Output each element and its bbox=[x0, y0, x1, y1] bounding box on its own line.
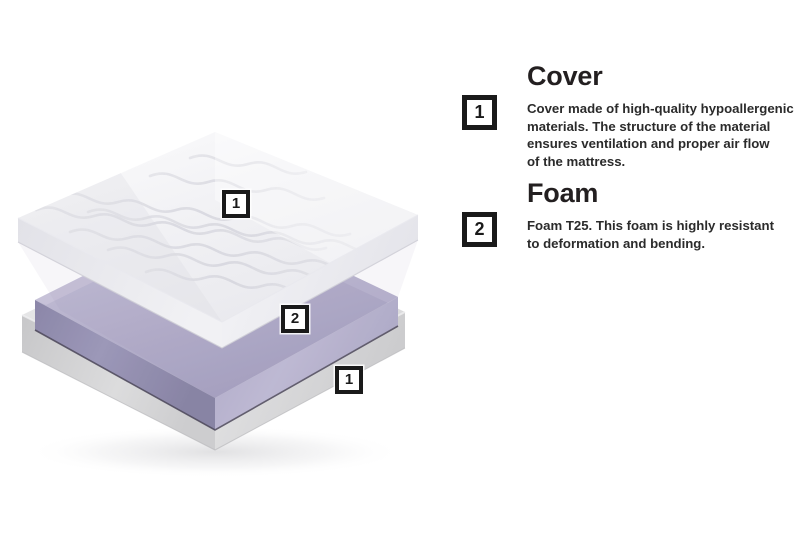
legend-panel: 1 Cover Cover made of high-quality hypoa… bbox=[455, 0, 800, 533]
legend-badge-1: 1 bbox=[462, 95, 497, 130]
legend-badge-2: 2 bbox=[462, 212, 497, 247]
legend-text-foam: Foam Foam T25. This foam is highly resis… bbox=[527, 177, 800, 252]
legend-title-foam: Foam bbox=[527, 177, 800, 209]
legend-title-cover: Cover bbox=[527, 60, 800, 92]
legend-body-cover: Cover made of high-quality hypoallergeni… bbox=[527, 100, 800, 170]
legend-body-foam: Foam T25. This foam is highly resistant … bbox=[527, 217, 800, 252]
callout-cover-base[interactable]: 1 bbox=[335, 366, 363, 394]
callout-cover-top[interactable]: 1 bbox=[222, 190, 250, 218]
legend-text-cover: Cover Cover made of high-quality hypoall… bbox=[527, 60, 800, 170]
mattress-cutaway-graphic bbox=[0, 0, 450, 533]
callout-foam[interactable]: 2 bbox=[281, 305, 309, 333]
mattress-illustration: 1 2 1 bbox=[0, 0, 450, 533]
